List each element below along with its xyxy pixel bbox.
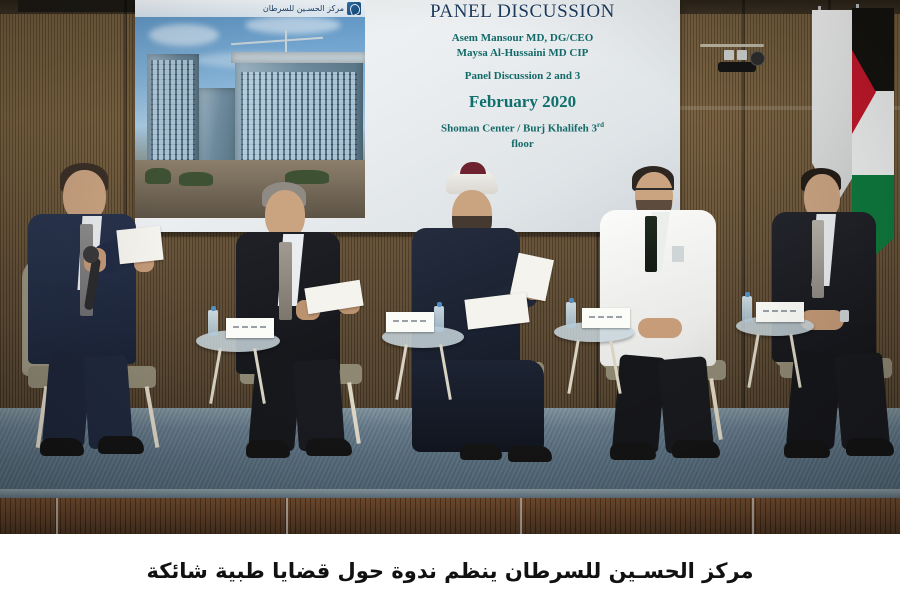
name-card <box>226 318 274 338</box>
construction-crane <box>231 37 323 45</box>
id-badge <box>672 246 684 262</box>
stage-panel-seam <box>286 498 288 534</box>
landscaping-shrub <box>179 172 213 186</box>
shoe <box>610 442 656 460</box>
name-card <box>756 302 804 322</box>
necktie <box>812 220 824 298</box>
hands-clasped <box>638 318 682 338</box>
shoe <box>846 438 894 456</box>
camera-arm <box>700 44 764 47</box>
shoe <box>508 446 552 462</box>
stage-panel-seam <box>520 498 522 534</box>
stage-panel-seam <box>752 498 754 534</box>
slide-title: PANEL DISCUSSION <box>365 2 680 22</box>
water-bottle <box>566 302 576 328</box>
slide-text-block: PANEL DISCUSSION Asem Mansour MD, DG/CEO… <box>365 0 680 232</box>
news-photo: مركز الحسـين للسرطان PANEL DISCUSSION As… <box>0 0 900 534</box>
slide-building-photo <box>135 0 365 218</box>
flag-red-chevron <box>852 50 876 134</box>
slide-session-label: Panel Discussion 2 and 3 <box>365 69 680 84</box>
caption-text: مركز الحسـين للسرطان ينظم ندوة حول قضايا… <box>146 559 753 583</box>
leg <box>834 352 890 450</box>
building-canopy <box>231 52 365 63</box>
slide-speaker-1: Asem Mansour MD, DG/CEO <box>365 31 680 46</box>
shoe <box>460 444 502 460</box>
microphone-head-icon <box>83 246 99 263</box>
cloud <box>245 16 341 34</box>
slide-venue-line2: floor <box>365 137 680 152</box>
landscaping-shrub <box>145 168 171 184</box>
robe-skirt <box>412 360 544 452</box>
shoe <box>672 440 720 458</box>
building-main-glass <box>241 72 357 160</box>
name-card <box>582 308 630 328</box>
eyeglasses-icon <box>634 188 674 197</box>
camera-mount-plate <box>737 50 747 60</box>
shoe <box>40 438 84 456</box>
name-card <box>386 312 434 332</box>
held-paper <box>116 226 163 264</box>
cloud <box>149 24 219 46</box>
wristwatch <box>840 310 849 322</box>
necktie <box>645 216 657 272</box>
building-ground <box>135 160 365 218</box>
camera-mount-plate <box>724 50 734 60</box>
shoe <box>306 438 352 456</box>
security-camera-lens-icon <box>750 51 765 66</box>
kh-cancer-center-logo: مركز الحسـين للسرطان <box>135 0 365 17</box>
caption-bar: مركز الحسـين للسرطان ينظم ندوة حول قضايا… <box>0 534 900 608</box>
slide-venue-line1: Shoman Center / Burj Khalifeh 3rd <box>365 121 680 137</box>
shoe <box>784 440 830 458</box>
screenshot-root: مركز الحسـين للسرطان PANEL DISCUSSION As… <box>0 0 900 608</box>
water-bottle <box>742 296 752 322</box>
stage-panel-seam <box>56 498 58 534</box>
logo-mark-icon <box>347 2 361 15</box>
building-glass-facade <box>151 60 195 160</box>
slide-date: February 2020 <box>365 92 680 112</box>
necktie <box>279 242 292 320</box>
slide-venue-main: Shoman Center / Burj Khalifeh 3 <box>441 123 597 135</box>
water-bottle <box>434 306 444 332</box>
logo-arabic-text: مركز الحسـين للسرطان <box>263 4 344 13</box>
slide-speaker-2: Maysa Al-Hussaini MD CIP <box>365 46 680 61</box>
slide-venue-ordinal: rd <box>597 121 604 129</box>
water-bottle <box>208 310 218 336</box>
shoe <box>98 436 144 454</box>
stage-front-panel <box>0 498 900 534</box>
security-camera-icon <box>718 62 756 72</box>
projection-screen: مركز الحسـين للسرطان PANEL DISCUSSION As… <box>135 0 680 232</box>
shoe <box>246 440 290 458</box>
